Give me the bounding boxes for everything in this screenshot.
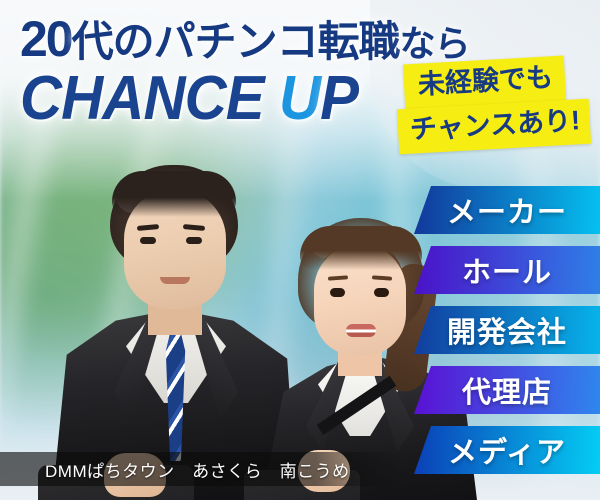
man-fringe (112, 171, 236, 217)
headline-line-1-body: 代のパチンコ転職 (72, 18, 400, 65)
tag-agency[interactable]: 代理店 (414, 366, 600, 414)
headline-line-2: CHANCE UP (20, 68, 396, 130)
woman-eye-right (374, 288, 389, 297)
woman-eye-left (330, 288, 345, 297)
recruitment-banner[interactable]: 20代のパチンコ転職なら CHANCE UP 未経験でも チャンスあり! メーカ… (0, 0, 600, 500)
tag-media-label: メディア (448, 429, 566, 471)
headline-block: 20代のパチンコ転職なら CHANCE UP (20, 14, 420, 130)
man-eye-left (140, 237, 156, 244)
chance-word: CHANCE (20, 64, 264, 133)
tag-developer[interactable]: 開発会社 (414, 306, 600, 354)
tag-hall[interactable]: ホール (414, 246, 600, 294)
credit-bar: DMMぱちタウン あさくら 南こうめ (0, 452, 404, 486)
woman-mouth (346, 324, 376, 337)
up-letter-u: U (279, 64, 320, 133)
tag-media[interactable]: メディア (414, 426, 600, 474)
tag-maker[interactable]: メーカー (414, 186, 600, 234)
tag-hall-label: ホール (462, 249, 552, 291)
man-mouth (160, 277, 190, 284)
photo-businessman (52, 165, 297, 500)
up-letter-p: P (320, 64, 358, 133)
tag-developer-label: 開発会社 (447, 309, 567, 351)
man-eye-right (186, 237, 202, 244)
headline-line-1-tail: なら (400, 23, 470, 64)
tag-maker-label: メーカー (447, 189, 567, 231)
headline-line-1: 20代のパチンコ転職なら (20, 14, 420, 64)
tag-agency-label: 代理店 (462, 369, 552, 411)
woman-fringe (300, 226, 422, 270)
credit-text: DMMぱちタウン あさくら 南こうめ (45, 457, 350, 482)
headline-age-number: 20 (20, 11, 72, 67)
